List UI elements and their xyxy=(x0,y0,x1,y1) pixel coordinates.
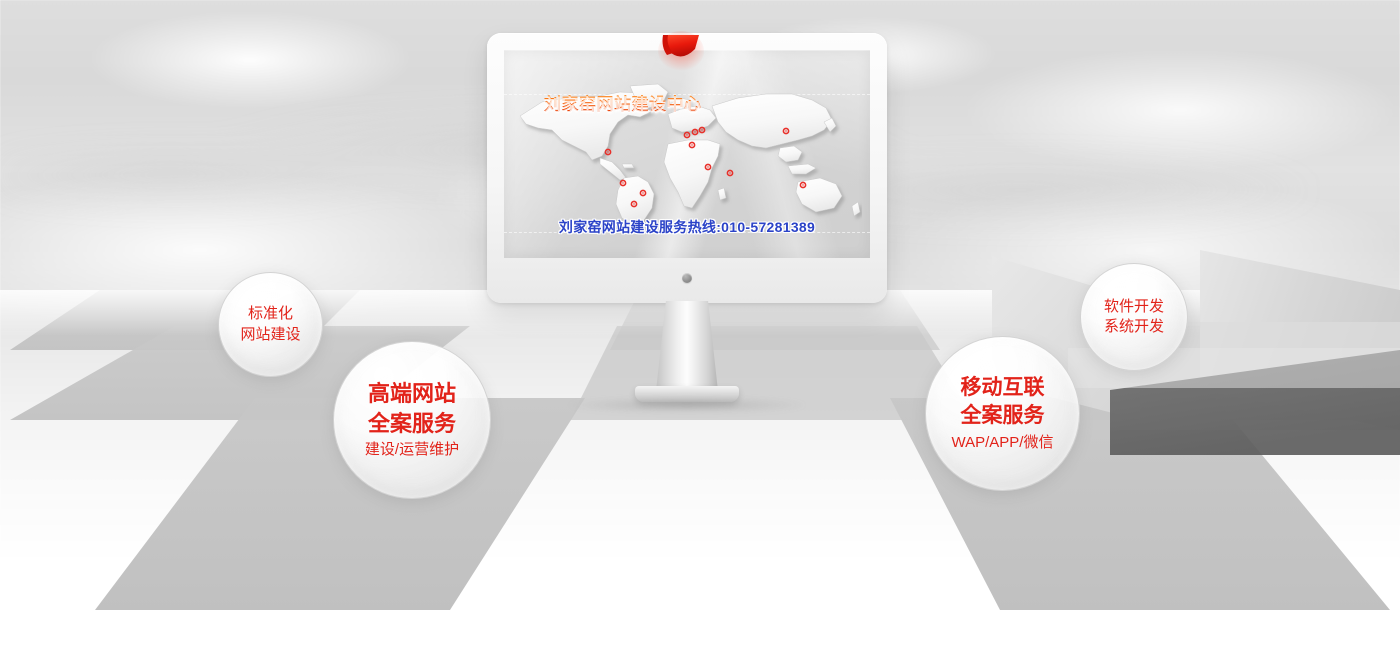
bubble-mobile[interactable]: 移动互联 全案服务 WAP/APP/微信 xyxy=(925,336,1080,491)
map-marker-core xyxy=(785,130,786,131)
bubble-highend-line-1: 高端网站 xyxy=(368,379,456,408)
bubble-highend[interactable]: 高端网站 全案服务 建设/运营维护 xyxy=(333,341,491,499)
bubble-software[interactable]: 软件开发 系统开发 xyxy=(1080,263,1188,371)
monitor-screen: 刘家窑网站建设中心 刘家窑网站建设服务热线:010-57281389 xyxy=(504,50,870,258)
map-marker-core xyxy=(633,203,634,204)
map-marker-core xyxy=(642,192,643,193)
map-marker-core xyxy=(622,182,623,183)
map-marker-core xyxy=(729,172,730,173)
bubble-highend-line-3: 建设/运营维护 xyxy=(365,440,459,460)
map-marker-core xyxy=(607,151,608,152)
monitor-stand-neck xyxy=(656,301,718,391)
map-marker-core xyxy=(802,184,803,185)
red-ribbon-icon xyxy=(655,27,707,75)
bubble-standard[interactable]: 标准化 网站建设 xyxy=(218,272,323,377)
bubble-mobile-line-3: WAP/APP/微信 xyxy=(952,433,1054,453)
bubble-software-line-1: 软件开发 xyxy=(1104,297,1164,317)
screen-title: 刘家窑网站建设中心 xyxy=(544,90,702,115)
promo-banner: 刘家窑网站建设中心 刘家窑网站建设服务热线:010-57281389 xyxy=(0,0,1400,651)
bubble-mobile-line-2: 全案服务 xyxy=(961,402,1045,430)
monitor-ground-shadow xyxy=(567,397,807,413)
bubble-mobile-line-1: 移动互联 xyxy=(961,374,1045,402)
map-marker-core xyxy=(701,129,702,130)
bubble-standard-line-2: 网站建设 xyxy=(240,325,300,345)
bubble-standard-line-1: 标准化 xyxy=(248,304,293,324)
map-marker-core xyxy=(694,131,695,132)
screen-hotline: 刘家窑网站建设服务热线:010-57281389 xyxy=(504,217,870,237)
map-marker-core xyxy=(686,134,687,135)
bubble-highend-line-2: 全案服务 xyxy=(368,409,456,438)
monitor-power-indicator xyxy=(682,273,692,283)
bubble-software-line-2: 系统开发 xyxy=(1104,317,1164,337)
map-marker-core xyxy=(707,166,708,167)
imac-monitor: 刘家窑网站建设中心 刘家窑网站建设服务热线:010-57281389 xyxy=(487,33,887,303)
map-marker-core xyxy=(691,144,692,145)
